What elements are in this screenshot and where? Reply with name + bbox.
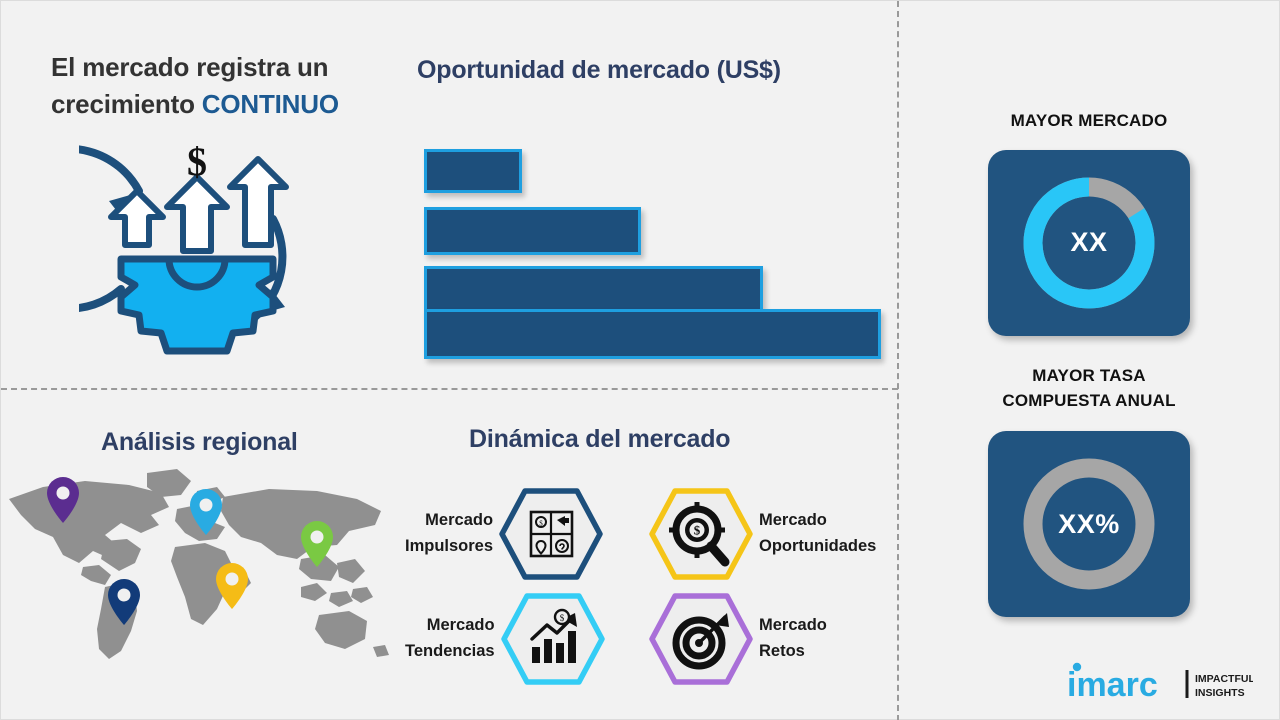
growth-gear-arrows-icon: $ (79, 139, 315, 369)
dynamics-item-tendencias[interactable]: Mercado Tendencias $ (405, 593, 605, 685)
logo-tagline-line2: INSIGHTS (1195, 687, 1245, 699)
headline-line1: El mercado registra un (51, 52, 328, 82)
pin-africa (216, 563, 248, 609)
svg-text:$: $ (694, 523, 701, 538)
bar-chart-title: Oportunidad de mercado (US$) (417, 56, 781, 85)
kpi-largest-market-card: XX (988, 150, 1190, 336)
dynamics-item-tendencias-label: Mercado Tendencias (405, 613, 495, 664)
kpi-largest-market-caption: MAYOR MERCADO (941, 109, 1237, 134)
hexagon-tendencias: $ (501, 593, 605, 685)
bar-chart (417, 141, 887, 361)
bar-4 (424, 309, 881, 359)
vertical-divider (897, 1, 899, 720)
bar-1 (424, 149, 522, 193)
regional-section-title: Análisis regional (101, 428, 298, 457)
logo-tagline-line1: IMPACTFUL (1195, 673, 1253, 685)
kpi-highest-cagr-card: XX% (988, 431, 1190, 617)
dynamics-item-retos[interactable]: Mercado Retos (649, 593, 827, 685)
logo-wordmark: imarc (1067, 666, 1158, 704)
kpi-highest-cagr: MAYOR TASA COMPUESTA ANUAL XX% (941, 364, 1237, 617)
hexagon-oportunidades: $ (649, 488, 753, 580)
dynamics-item-retos-label: Mercado Retos (759, 613, 827, 664)
svg-text:$: $ (559, 613, 564, 623)
world-map (1, 463, 401, 668)
hexagon-retos (649, 593, 753, 685)
dynamics-item-oportunidades-label: Mercado Oportunidades (759, 508, 876, 559)
kpi-largest-market-value: XX (1070, 227, 1107, 258)
dynamics-item-impulsores[interactable]: Mercado Impulsores $ (405, 488, 603, 580)
page-title: El mercado registra un crecimiento CONTI… (51, 49, 411, 123)
bar-2 (424, 207, 641, 255)
headline-line2-plain: crecimiento (51, 89, 202, 119)
puzzle-pieces-icon: $ (531, 512, 572, 556)
hexagon-impulsores: $ (499, 488, 603, 580)
kpi-highest-cagr-value: XX% (1058, 509, 1120, 540)
dynamics-section-title: Dinámica del mercado (469, 425, 730, 454)
imarc-logo: imarc IMPACTFUL INSIGHTS (1063, 658, 1253, 704)
infographic-slide: El mercado registra un crecimiento CONTI… (0, 0, 1280, 720)
dollar-symbol: $ (187, 139, 207, 184)
headline-line2-accent: CONTINUO (202, 89, 339, 119)
dynamics-item-impulsores-label: Mercado Impulsores (405, 508, 493, 559)
horizontal-divider (1, 388, 898, 390)
svg-text:$: $ (539, 520, 543, 528)
dynamics-item-oportunidades[interactable]: $ Mercado Oportunidades (649, 488, 876, 580)
kpi-highest-cagr-caption: MAYOR TASA COMPUESTA ANUAL (941, 364, 1237, 413)
kpi-largest-market: MAYOR MERCADO XX (941, 109, 1237, 336)
